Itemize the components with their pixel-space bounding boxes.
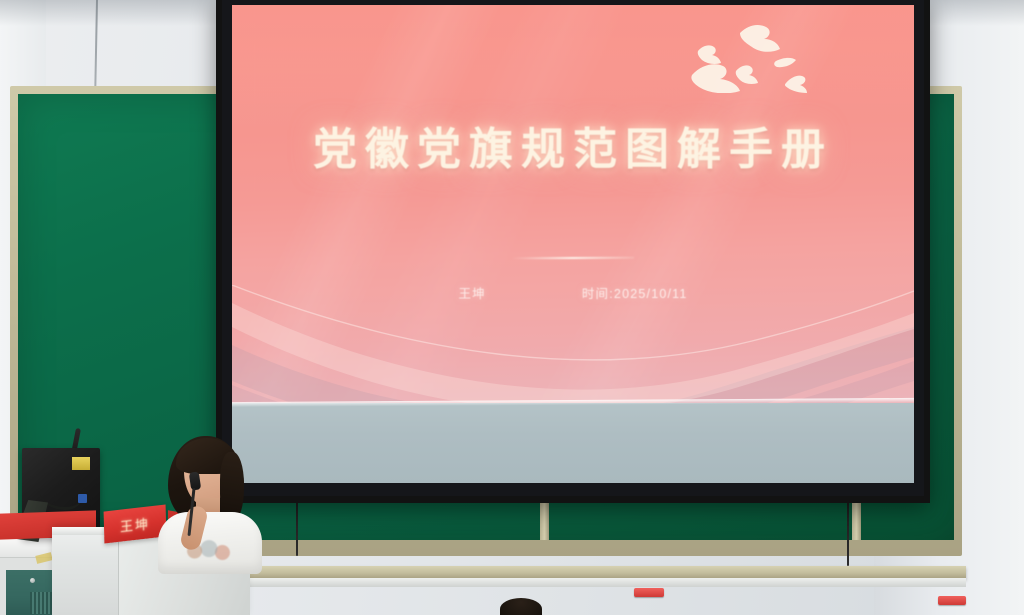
slide-meta-row: 王坤 时间:2025/10/11	[232, 283, 914, 302]
presenter	[150, 432, 270, 562]
slide-bottom-band	[232, 403, 914, 483]
monitor-label-sticker	[72, 457, 90, 470]
classroom-photo-scene: 党徽党旗规范图解手册 王坤 时间:2025/10/11 王坤	[0, 0, 1024, 615]
blackboard-wire-right	[847, 494, 849, 566]
audience-head	[500, 598, 542, 615]
name-card-text: 王坤	[120, 513, 151, 535]
slide-title: 党徽党旗规范图解手册	[232, 113, 914, 177]
console-screw	[30, 578, 35, 583]
blackboard-wire-left	[296, 494, 298, 556]
chalk-piece[interactable]	[938, 596, 966, 605]
monitor-blue-tag	[78, 494, 87, 503]
dove-flock-icon	[668, 17, 818, 93]
slide-date: 时间:2025/10/11	[582, 283, 688, 302]
slide-presenter-name: 王坤	[458, 283, 485, 302]
presentation-slide[interactable]: 党徽党旗规范图解手册 王坤 时间:2025/10/11	[232, 5, 914, 483]
chalk-piece[interactable]	[634, 588, 664, 597]
